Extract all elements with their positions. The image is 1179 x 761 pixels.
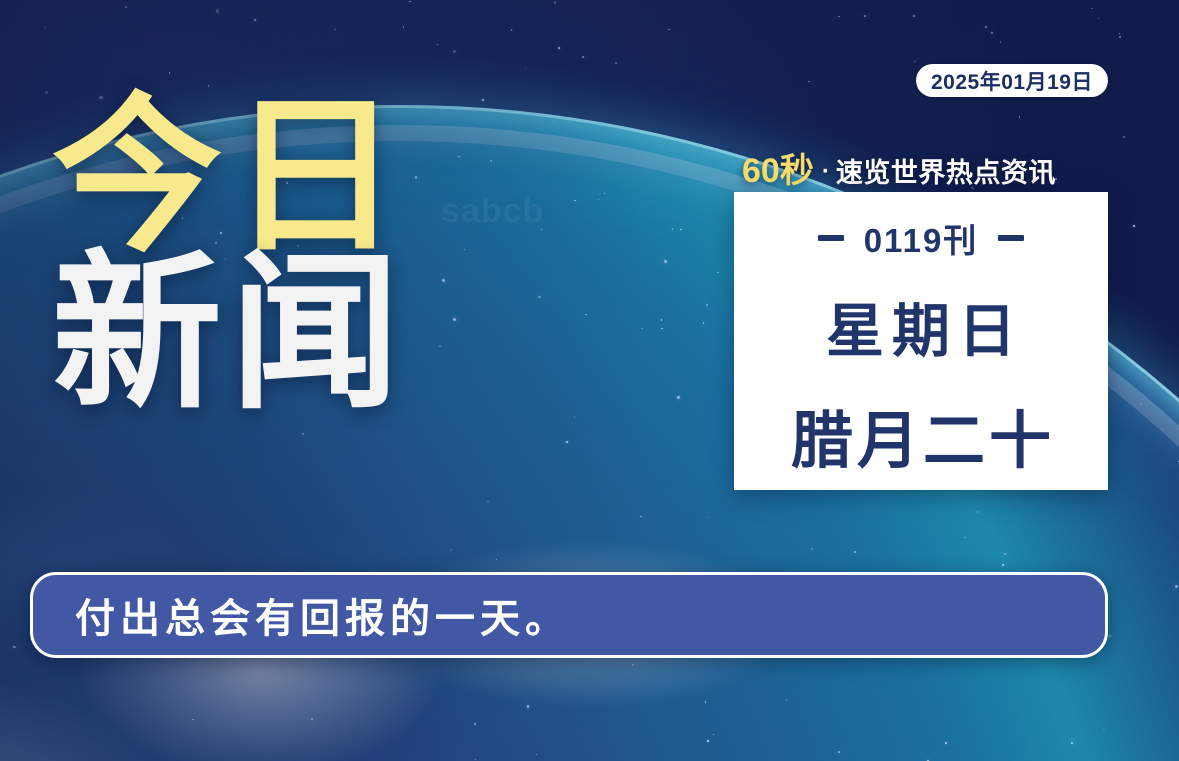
content-layer: 2025年01月19日 今日 新闻 60秒 · 速览世界热点资讯 0119刊 星… xyxy=(0,0,1179,761)
tagline: 60秒 · 速览世界热点资讯 xyxy=(742,143,1056,192)
quote-text: 付出总会有回报的一天。 xyxy=(33,586,570,644)
issue-number: 0119刊 xyxy=(864,214,979,262)
date-badge: 2025年01月19日 xyxy=(916,64,1108,97)
poster-canvas: sabcb 2025年01月19日 今日 新闻 60秒 · 速览世界热点资讯 0… xyxy=(0,0,1179,761)
brand-title-line-2: 新闻 xyxy=(52,253,482,416)
brand-title: 今日 新闻 xyxy=(52,96,482,416)
weekday-label: 星期日 xyxy=(818,284,1024,368)
brand-title-line-1: 今日 xyxy=(52,96,482,259)
dash-left-icon xyxy=(818,235,844,241)
quote-banner: 付出总会有回报的一天。 xyxy=(30,572,1108,658)
issue-row: 0119刊 xyxy=(818,214,1025,262)
info-card: 0119刊 星期日 腊月二十 xyxy=(734,192,1108,490)
tagline-text: 速览世界热点资讯 xyxy=(836,151,1056,190)
dash-right-icon xyxy=(998,235,1024,241)
tagline-separator-dot: · xyxy=(814,158,836,186)
tagline-seconds: 60秒 xyxy=(742,143,814,192)
lunar-date-label: 腊月二十 xyxy=(787,390,1055,480)
